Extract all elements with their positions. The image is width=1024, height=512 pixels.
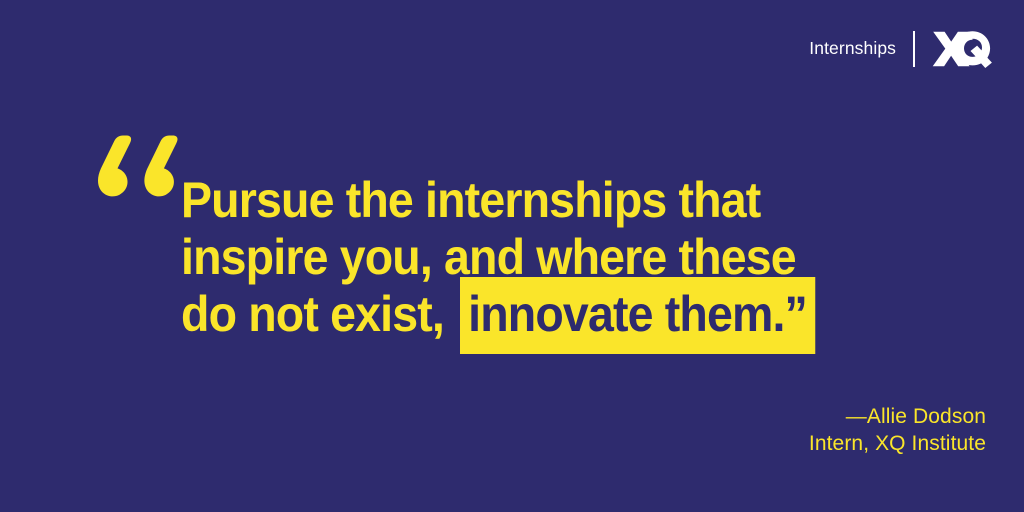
quote-card: Internships Pursue the internships that … bbox=[0, 0, 1024, 512]
open-quote-icon bbox=[93, 133, 181, 199]
quote-line-1-text: Pursue the internships that bbox=[181, 172, 760, 228]
quote-line-1: Pursue the internships that bbox=[181, 172, 832, 229]
quote-highlight: innovate them.” bbox=[460, 277, 816, 354]
attribution-name: —Allie Dodson bbox=[809, 403, 986, 430]
quote-line-3: do not exist, innovate them.” bbox=[181, 286, 832, 343]
attribution: —Allie Dodson Intern, XQ Institute bbox=[809, 403, 986, 457]
attribution-role: Intern, XQ Institute bbox=[809, 430, 986, 457]
quote-line-3-text: do not exist, bbox=[181, 286, 456, 342]
quote-text: Pursue the internships that inspire you,… bbox=[181, 172, 881, 343]
